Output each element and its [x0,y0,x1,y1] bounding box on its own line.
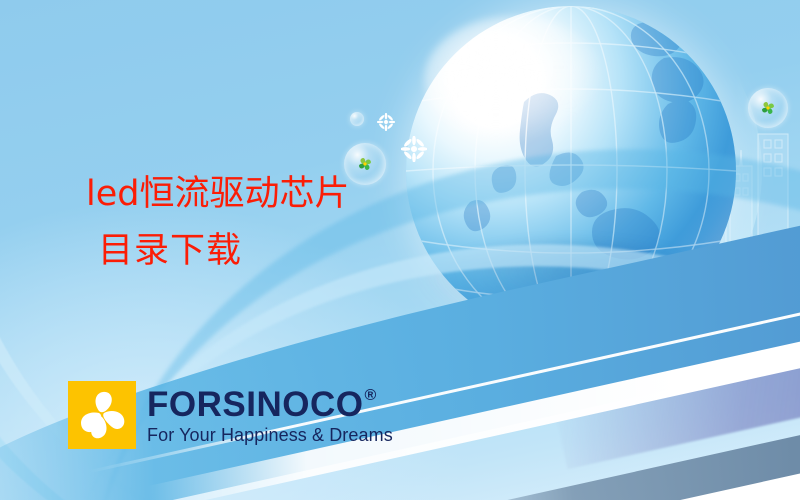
headline-line-1: led恒流驱动芯片 [86,166,349,223]
brand-name-row: FORSINOCO ® [147,387,393,423]
registered-trademark-icon: ® [364,388,376,404]
brand-tagline: For Your Happiness & Dreams [147,424,393,446]
brand-logo-text: FORSINOCO ® For Your Happiness & Dreams [147,381,393,446]
brand-name: FORSINOCO [147,387,363,423]
four-petal-pinwheel-icon [68,381,136,449]
promo-banner: led恒流驱动芯片 目录下载 FORSINOCO ® For Your Happ… [0,0,800,500]
globe-grid-lines [406,6,736,336]
brand-logo[interactable]: FORSINOCO ® For Your Happiness & Dreams [68,381,393,449]
earth-globe-icon [406,6,736,336]
headline-line-2: 目录下载 [86,223,349,280]
headline: led恒流驱动芯片 目录下载 [86,166,349,280]
